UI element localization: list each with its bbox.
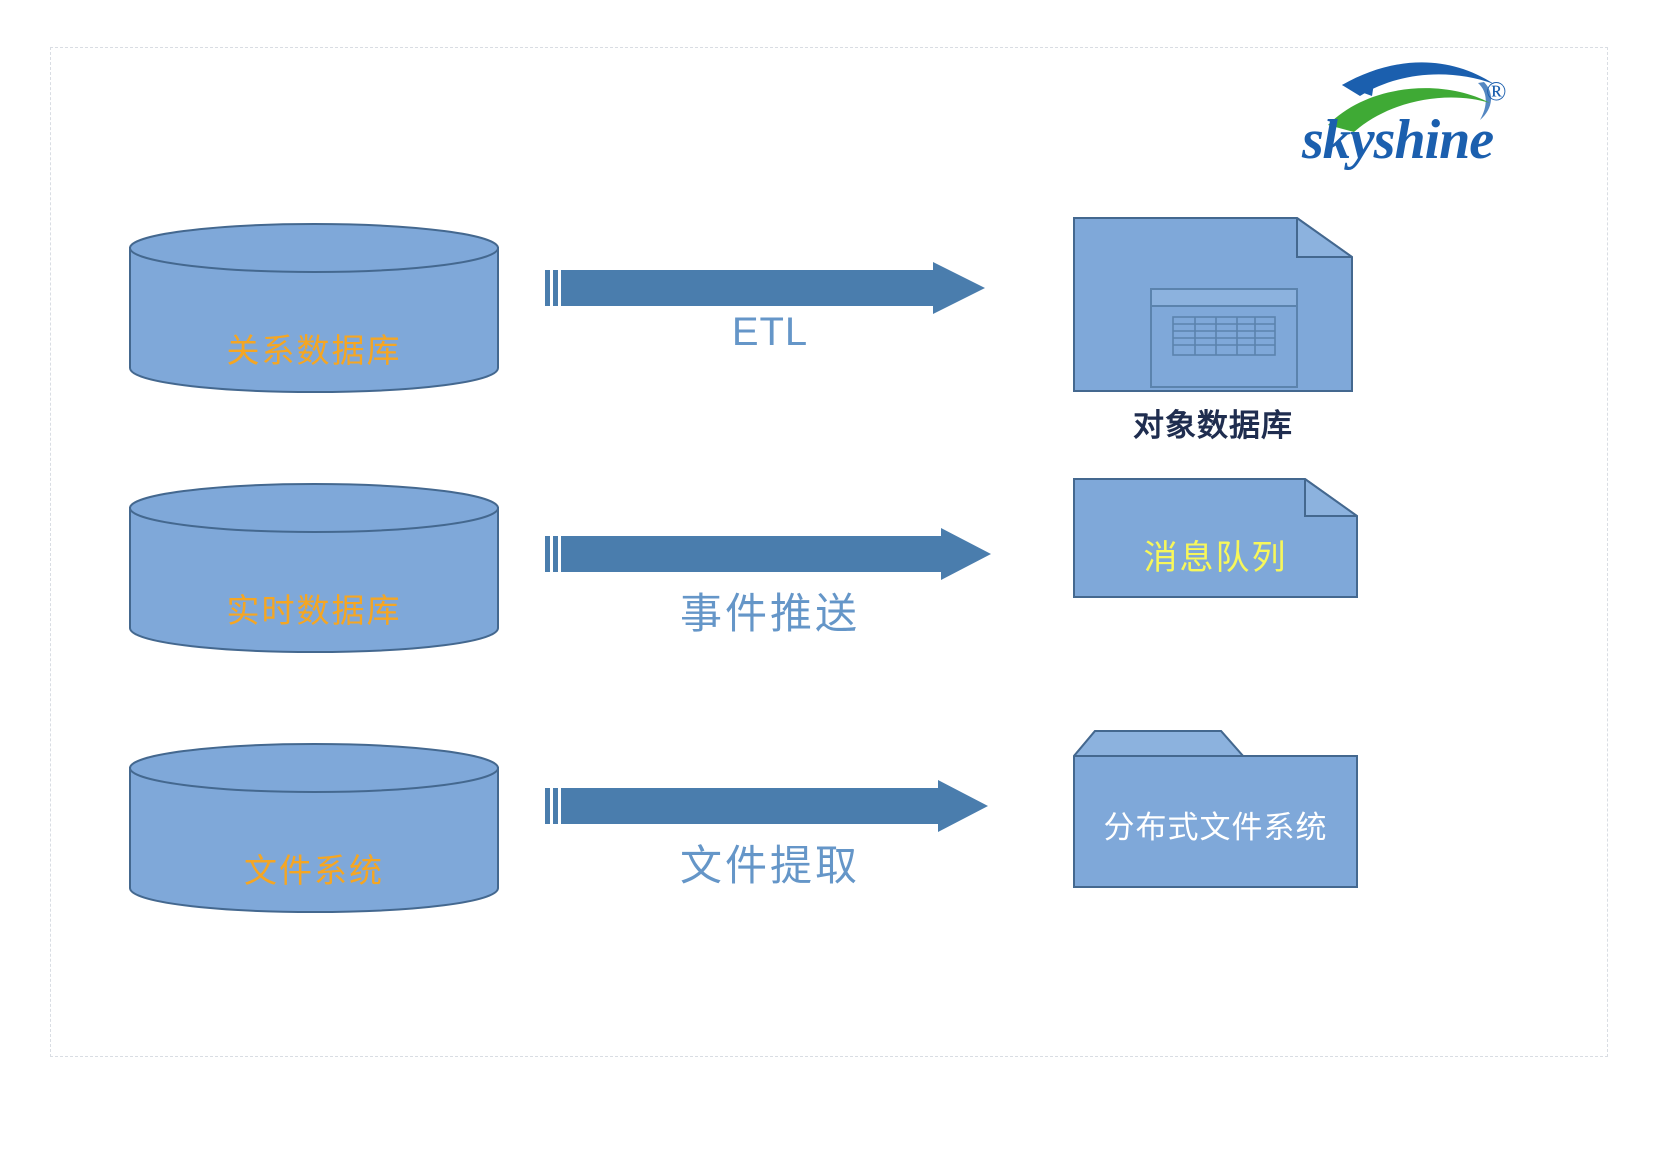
skyshine-logo[interactable]: skyshine ® <box>1298 50 1523 170</box>
source-label: 实时数据库 <box>128 584 500 632</box>
flow-label: 文件提取 <box>545 832 995 893</box>
flow-arrow-event-push[interactable]: 事件推送 <box>545 528 995 648</box>
flow-arrow-file-extract[interactable]: 文件提取 <box>545 780 995 900</box>
source-cylinder-realtime-database[interactable]: 实时数据库 <box>128 482 500 654</box>
skyshine-logo-mark: skyshine <box>1298 50 1523 170</box>
flow-label: 事件推送 <box>545 580 995 641</box>
source-label: 文件系统 <box>128 844 500 892</box>
document-with-table-icon <box>1073 217 1353 392</box>
source-label: 关系数据库 <box>128 324 500 372</box>
target-label: 消息队列 <box>1073 530 1358 579</box>
target-document-object-database[interactable] <box>1073 217 1353 392</box>
svg-text:skyshine: skyshine <box>1301 109 1493 170</box>
flow-label: ETL <box>545 310 995 355</box>
target-label: 分布式文件系统 <box>1073 802 1358 847</box>
source-cylinder-relational-database[interactable]: 关系数据库 <box>128 222 500 394</box>
target-label: 对象数据库 <box>1073 400 1353 445</box>
flow-arrow-etl[interactable]: ETL <box>545 262 995 382</box>
source-cylinder-file-system[interactable]: 文件系统 <box>128 742 500 914</box>
registered-trademark-icon: ® <box>1486 78 1507 105</box>
slide-canvas: skyshine ® 关系数据库 ETL <box>0 0 1658 1164</box>
